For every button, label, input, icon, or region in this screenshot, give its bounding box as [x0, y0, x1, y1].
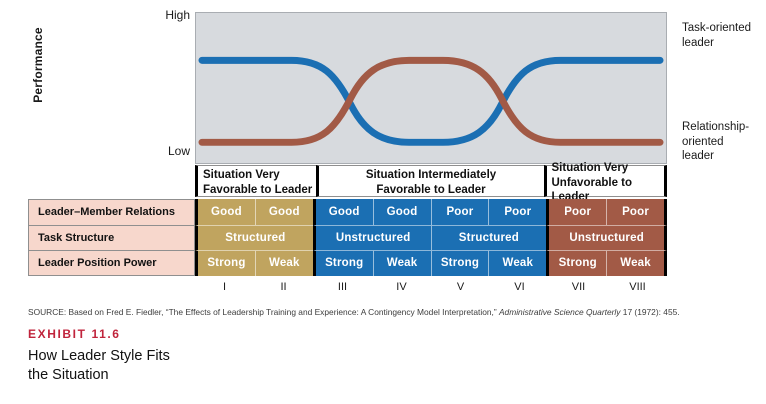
legend-task-line1: Task-oriented — [682, 21, 751, 36]
situation-header-band: Situation VeryFavorable to LeaderSituati… — [195, 165, 667, 197]
y-tick-low: Low — [146, 144, 190, 158]
row-cells: StructuredUnstructuredStructuredUnstruct… — [195, 225, 667, 251]
situation-numeral-7: VII — [549, 281, 608, 299]
table-row: Leader Position PowerStrongWeakStrongWea… — [28, 250, 667, 276]
situation-header-1: Situation VeryFavorable to Leader — [195, 165, 316, 197]
table-cell: Strong — [546, 250, 606, 276]
task-oriented-curve — [202, 60, 660, 142]
exhibit-number: EXHIBIT 11.6 — [28, 327, 121, 341]
row-cells: GoodGoodGoodGoodPoorPoorPoorPoor — [195, 199, 667, 225]
table-cell: Structured — [195, 225, 313, 251]
table-row: Task StructureStructuredUnstructuredStru… — [28, 225, 667, 251]
source-suffix: 17 (1972): 455. — [620, 307, 679, 317]
table-cell: Strong — [195, 250, 255, 276]
row-label: Leader Position Power — [28, 250, 195, 276]
exhibit-title-line2: the Situation — [28, 366, 288, 385]
exhibit-title: How Leader Style Fits the Situation — [28, 347, 288, 385]
legend-rel-line3: leader — [682, 149, 749, 164]
situation-header-text: Situation VeryFavorable to Leader — [203, 168, 312, 196]
source-note: SOURCE: Based on Fred E. Fiedler, “The E… — [28, 307, 748, 317]
table-row: Leader–Member RelationsGoodGoodGoodGoodP… — [28, 199, 667, 225]
table-cell: Structured — [431, 225, 547, 251]
y-axis-title: Performance — [31, 5, 45, 125]
table-cell: Poor — [606, 199, 667, 225]
source-journal: Administrative Science Quarterly — [499, 307, 620, 317]
situation-header-text: Situation VeryUnfavorable to Leader — [552, 161, 665, 203]
situation-numeral-8: VIII — [608, 281, 667, 299]
row-label: Task Structure — [28, 225, 195, 251]
legend-task-oriented: Task-oriented leader — [682, 21, 751, 50]
y-tick-high: High — [146, 8, 190, 22]
table-cell: Good — [195, 199, 255, 225]
table-cell: Weak — [255, 250, 313, 276]
table-cell: Poor — [431, 199, 489, 225]
table-cell: Weak — [488, 250, 546, 276]
table-cell: Good — [313, 199, 373, 225]
table-cell: Good — [373, 199, 431, 225]
situation-header-3: Situation VeryUnfavorable to Leader — [544, 165, 668, 197]
situation-numeral-1: I — [195, 281, 254, 299]
plot-area — [195, 12, 667, 164]
table-cell: Strong — [313, 250, 373, 276]
table-cell: Unstructured — [313, 225, 431, 251]
table-cell: Strong — [431, 250, 489, 276]
situation-numeral-4: IV — [372, 281, 431, 299]
row-label: Leader–Member Relations — [28, 199, 195, 225]
row-cells: StrongWeakStrongWeakStrongWeakStrongWeak — [195, 250, 667, 276]
table-cell: Poor — [546, 199, 606, 225]
situation-header-2: Situation IntermediatelyFavorable to Lea… — [316, 165, 544, 197]
situation-table: Situation VeryFavorable to LeaderSituati… — [0, 165, 766, 300]
situation-header-text: Situation IntermediatelyFavorable to Lea… — [366, 168, 496, 196]
situation-numeral-6: VI — [490, 281, 549, 299]
exhibit-title-line1: How Leader Style Fits — [28, 347, 288, 366]
relationship-oriented-curve — [202, 60, 660, 142]
table-cell: Weak — [606, 250, 667, 276]
table-cell: Unstructured — [546, 225, 667, 251]
legend-rel-line2: oriented — [682, 135, 749, 150]
y-axis-ticks: High Low — [140, 0, 190, 165]
table-cell: Poor — [488, 199, 546, 225]
table-cell: Weak — [373, 250, 431, 276]
source-prefix: SOURCE: Based on Fred E. Fiedler, “The E… — [28, 307, 499, 317]
situation-numeral-5: V — [431, 281, 490, 299]
situation-numeral-3: III — [313, 281, 372, 299]
situation-numeral-2: II — [254, 281, 313, 299]
performance-curves — [196, 13, 666, 163]
performance-chart: Performance High Low Task-oriented leade… — [0, 0, 766, 165]
table-rows: Leader–Member RelationsGoodGoodGoodGoodP… — [28, 199, 667, 276]
table-cell: Good — [255, 199, 313, 225]
legend-rel-line1: Relationship- — [682, 120, 749, 135]
legend-relationship-oriented: Relationship- oriented leader — [682, 120, 749, 164]
legend-task-line2: leader — [682, 36, 751, 51]
situation-numerals: IIIIIIIVVVIVIIVIII — [195, 281, 667, 299]
